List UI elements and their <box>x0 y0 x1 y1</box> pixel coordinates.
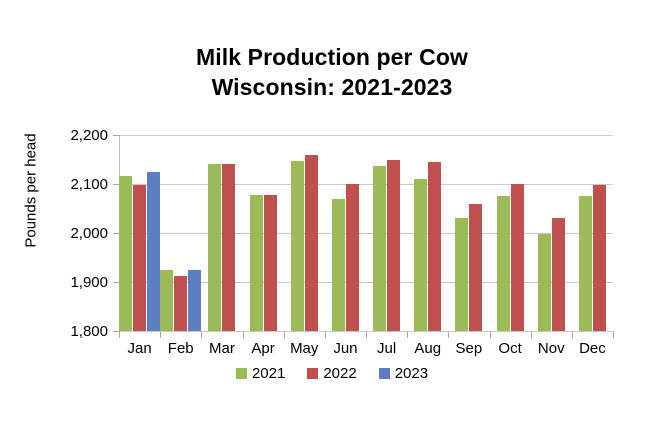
plot-area <box>119 135 613 331</box>
x-axis-label-may: May <box>284 340 325 358</box>
bar-oct-2022[interactable] <box>511 184 524 331</box>
legend-swatch-icon <box>236 368 247 379</box>
legend-item-2021[interactable]: 2021 <box>236 366 285 381</box>
bar-jan-2022[interactable] <box>133 185 146 331</box>
gridline <box>119 135 613 136</box>
gridline <box>119 184 613 185</box>
x-axis-label-jan: Jan <box>119 340 160 358</box>
chart-legend: 202120222023 <box>0 366 664 381</box>
x-axis-tick <box>572 332 573 338</box>
bar-sep-2022[interactable] <box>469 204 482 331</box>
bar-jun-2022[interactable] <box>346 184 359 331</box>
y-axis-tick-label: 2,000 <box>50 226 108 241</box>
bar-feb-2023[interactable] <box>188 270 201 331</box>
chart-title-line-1: Milk Production per Cow <box>196 44 468 70</box>
y-axis-tick <box>113 233 120 234</box>
y-axis-tick <box>113 331 120 332</box>
x-axis-tick <box>366 332 367 338</box>
legend-item-2023[interactable]: 2023 <box>379 366 428 381</box>
bar-nov-2022[interactable] <box>552 218 565 331</box>
x-axis-label-mar: Mar <box>201 340 242 358</box>
legend-swatch-icon <box>307 368 318 379</box>
y-axis-tick <box>113 282 120 283</box>
x-axis-tick <box>448 332 449 338</box>
bar-oct-2021[interactable] <box>497 196 510 331</box>
legend-label: 2021 <box>252 366 285 381</box>
x-axis-label-feb: Feb <box>160 340 201 358</box>
x-axis-tick <box>243 332 244 338</box>
bar-jul-2022[interactable] <box>387 160 400 332</box>
milk-production-chart: Milk Production per Cow Wisconsin: 2021-… <box>0 0 664 427</box>
bar-may-2021[interactable] <box>291 161 304 331</box>
x-axis-tick <box>613 332 614 338</box>
x-axis-tick <box>325 332 326 338</box>
bar-nov-2021[interactable] <box>538 234 551 331</box>
x-axis-label-jul: Jul <box>366 340 407 358</box>
legend-swatch-icon <box>379 368 390 379</box>
x-axis-tick <box>490 332 491 338</box>
x-axis-tick <box>284 332 285 338</box>
bar-feb-2021[interactable] <box>160 270 173 331</box>
bar-feb-2022[interactable] <box>174 276 187 331</box>
y-axis-tick-label: 1,900 <box>50 275 108 290</box>
bar-jun-2021[interactable] <box>332 199 345 331</box>
legend-label: 2023 <box>395 366 428 381</box>
x-axis-tick <box>407 332 408 338</box>
x-axis-label-oct: Oct <box>490 340 531 358</box>
bar-jul-2021[interactable] <box>373 166 386 331</box>
bar-mar-2021[interactable] <box>208 164 221 331</box>
y-axis-tick <box>113 184 120 185</box>
x-axis-tick <box>160 332 161 338</box>
bar-jan-2021[interactable] <box>119 176 132 331</box>
y-axis-tick-label: 2,100 <box>50 177 108 192</box>
x-axis-tick <box>531 332 532 338</box>
x-axis-tick <box>201 332 202 338</box>
y-axis-tick <box>113 135 120 136</box>
x-axis-label-aug: Aug <box>407 340 448 358</box>
y-axis-title: Pounds per head <box>23 116 40 266</box>
bar-jan-2023[interactable] <box>147 172 160 331</box>
bar-apr-2022[interactable] <box>264 195 277 331</box>
y-axis-labels: 2,2002,1002,0001,9001,800 <box>48 0 108 427</box>
x-axis-label-dec: Dec <box>572 340 613 358</box>
bar-dec-2022[interactable] <box>593 185 606 331</box>
y-axis-tick-label: 1,800 <box>50 324 108 339</box>
x-axis-label-apr: Apr <box>243 340 284 358</box>
bar-may-2022[interactable] <box>305 155 318 331</box>
legend-item-2022[interactable]: 2022 <box>307 366 356 381</box>
bar-dec-2021[interactable] <box>579 196 592 331</box>
legend-label: 2022 <box>323 366 356 381</box>
bar-sep-2021[interactable] <box>455 218 468 331</box>
bar-mar-2022[interactable] <box>222 164 235 331</box>
x-axis-label-nov: Nov <box>531 340 572 358</box>
bar-aug-2021[interactable] <box>414 179 427 331</box>
x-axis-label-jun: Jun <box>325 340 366 358</box>
bar-aug-2022[interactable] <box>428 162 441 331</box>
x-axis-tick <box>119 332 120 338</box>
x-axis-label-sep: Sep <box>448 340 489 358</box>
y-axis-tick-label: 2,200 <box>50 128 108 143</box>
bar-apr-2021[interactable] <box>250 195 263 331</box>
